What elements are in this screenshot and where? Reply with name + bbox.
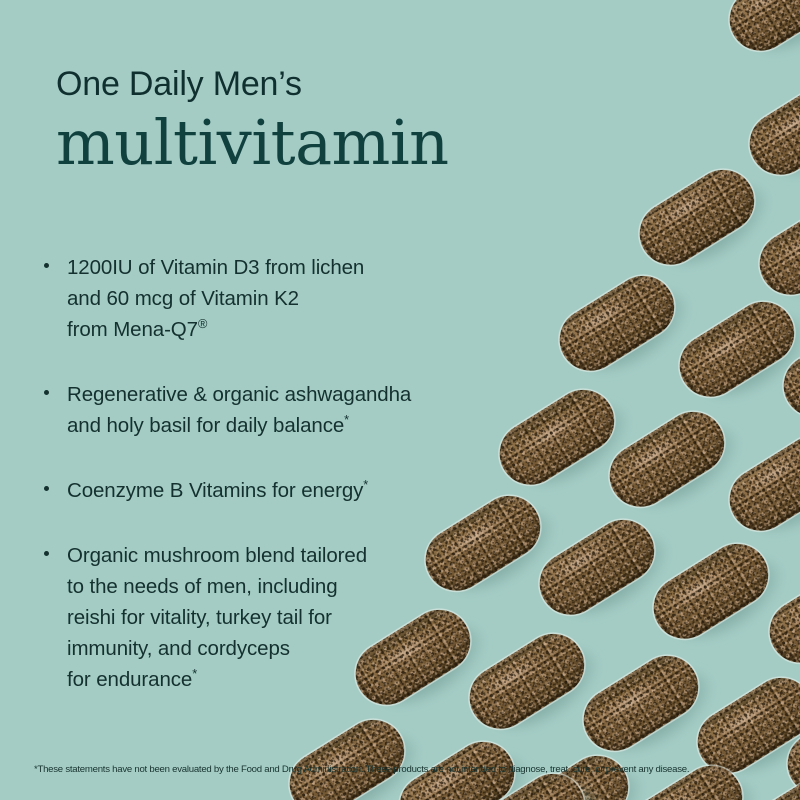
headline-wordmark: multivitamin <box>56 106 449 180</box>
list-item-line: to the needs of men, including <box>67 571 367 602</box>
list-item-label: 1200IU of Vitamin D3 from lichenand 60 m… <box>67 252 364 345</box>
footnote-mark: * <box>363 477 368 492</box>
list-item-line: from Mena-Q7® <box>67 314 364 345</box>
list-item: Regenerative & organic ashwagandhaand ho… <box>44 379 514 441</box>
bullet-dot-icon <box>44 486 49 491</box>
list-item-line: reishi for vitality, turkey tail for <box>67 602 367 633</box>
list-item-label: Regenerative & organic ashwagandhaand ho… <box>67 379 411 441</box>
list-item-line: and holy basil for daily balance* <box>67 410 411 441</box>
footnote-mark: * <box>192 666 197 681</box>
headline-eyebrow: One Daily Men’s <box>56 64 449 104</box>
list-item: Coenzyme B Vitamins for energy* <box>44 475 514 506</box>
bullet-dot-icon <box>44 551 49 556</box>
footnote-mark: * <box>344 412 349 427</box>
list-item: Organic mushroom blend tailoredto the ne… <box>44 540 514 695</box>
list-item-label: Organic mushroom blend tailoredto the ne… <box>67 540 367 695</box>
product-feature-card: *These statements have not been evaluate… <box>0 0 800 800</box>
list-item-line: 1200IU of Vitamin D3 from lichen <box>67 252 364 283</box>
footnote-mark: ® <box>198 316 207 331</box>
page-title: One Daily Men’s multivitamin <box>56 64 449 180</box>
bullet-dot-icon <box>44 263 49 268</box>
list-item: 1200IU of Vitamin D3 from lichenand 60 m… <box>44 252 514 345</box>
list-item-line: and 60 mcg of Vitamin K2 <box>67 283 364 314</box>
list-item-line: for endurance* <box>67 664 367 695</box>
list-item-label: Coenzyme B Vitamins for energy* <box>67 475 368 506</box>
feature-bullet-list: 1200IU of Vitamin D3 from lichenand 60 m… <box>44 252 514 729</box>
list-item-line: immunity, and cordyceps <box>67 633 367 664</box>
bullet-dot-icon <box>44 390 49 395</box>
list-item-line: Organic mushroom blend tailored <box>67 540 367 571</box>
list-item-line: Coenzyme B Vitamins for energy* <box>67 475 368 506</box>
list-item-line: Regenerative & organic ashwagandha <box>67 379 411 410</box>
